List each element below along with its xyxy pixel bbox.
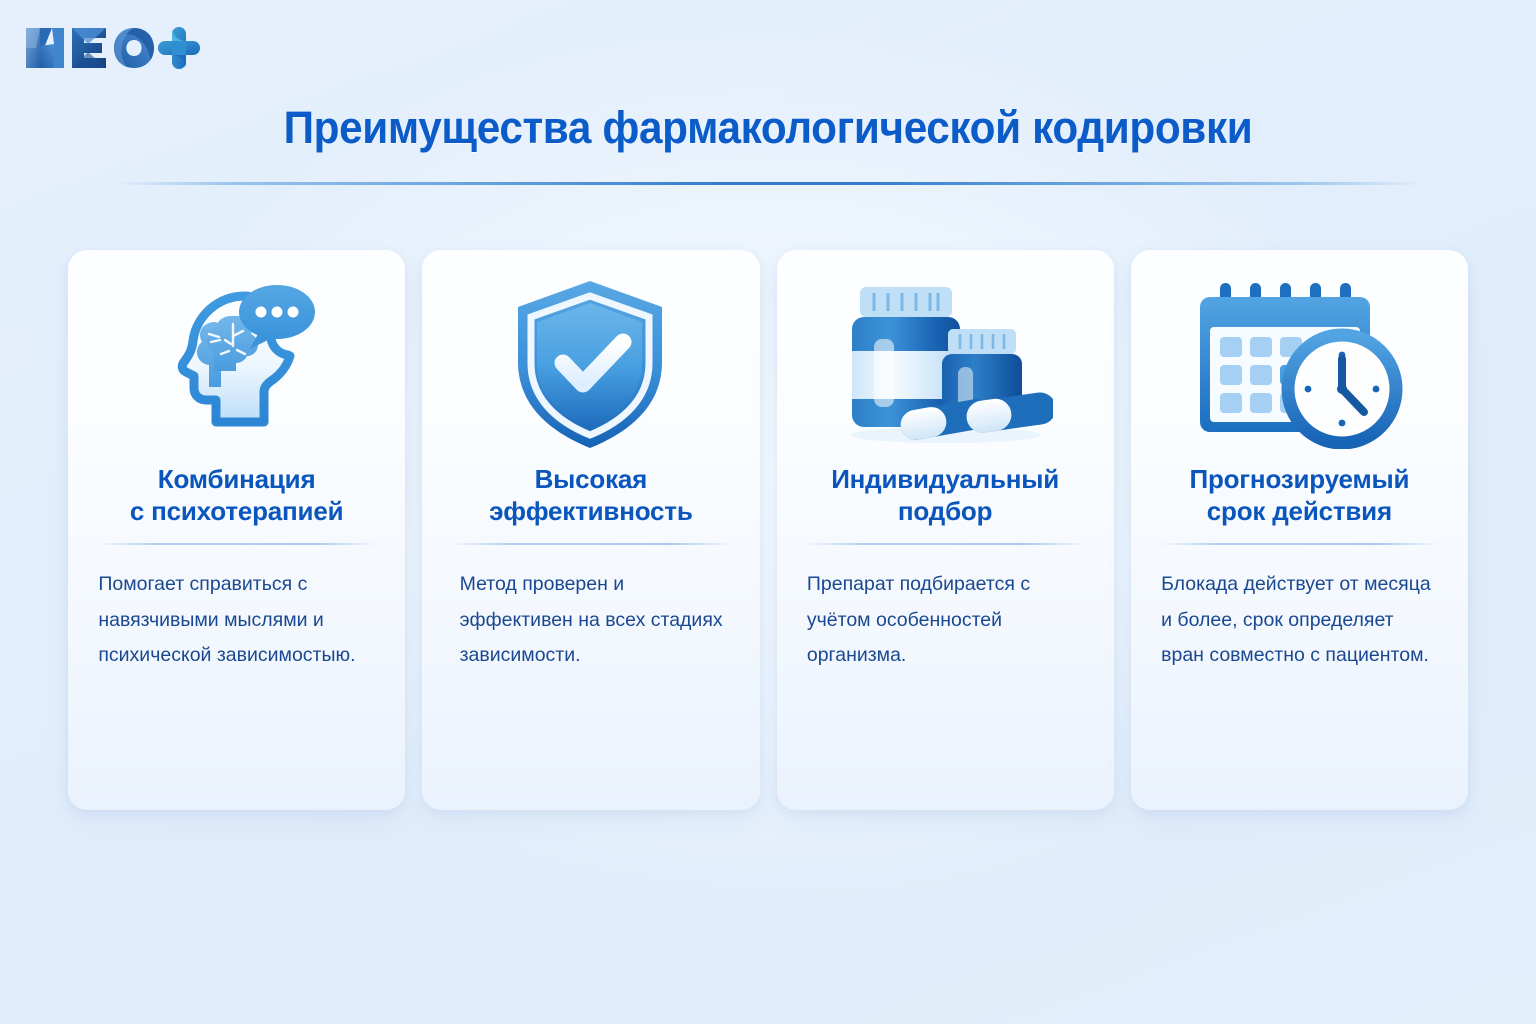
shield-check-icon [508,277,673,452]
logo-letter-o [114,28,154,68]
card-title-line1: Прогнозируемый [1189,464,1409,494]
card-title: Высокая эффективность [442,464,739,527]
card-divider [1158,543,1441,545]
pill-bottles-capsules-icon [838,279,1053,449]
card-body-text: Препарат подбирается с учётом особенност… [807,567,1084,672]
card-body-text: Метод проверен и эффективен на всех стад… [446,567,737,672]
card-title-line1: Индивидуальный [831,464,1059,494]
card-title: Комбинация с психотерапией [88,464,385,527]
page-title: Преимущества фармакологической кодировки [46,102,1490,154]
card-divider [449,543,732,545]
calendar-clock-icon [1192,279,1407,449]
clock-icon [1288,335,1396,443]
card-title-line2: эффективность [489,496,693,526]
card-divider [803,543,1086,545]
card-title-line2: с психотерапией [130,496,344,526]
icon-container [777,250,1114,460]
head-brain-speech-bubble-icon [147,274,327,454]
logo-letter-n [26,28,64,68]
logo-plus-icon [158,27,200,69]
card-body-text: Блокада действует от месяца и более, сро… [1161,567,1438,672]
benefit-card-list: Комбинация с психотерапией Помогает спра… [68,250,1468,810]
icon-container [422,250,759,460]
card-title-line1: Комбинация [158,464,316,494]
benefit-card-individual-selection[interactable]: Индивидуальный подбор Препарат подбирает… [777,250,1114,810]
card-divider [95,543,378,545]
card-title-line2: подбор [898,496,992,526]
card-body-text: Помогает справиться с навязчивыми мыслям… [98,567,375,672]
card-title-line2: срок действия [1207,496,1392,526]
benefit-card-predictable-duration[interactable]: Прогнозируемый срок действия Блокада дей… [1131,250,1468,810]
benefit-card-combination-psychotherapy[interactable]: Комбинация с психотерапией Помогает спра… [68,250,405,810]
icon-container [1131,250,1468,460]
card-title: Прогнозируемый срок действия [1151,464,1448,527]
infographic-slide: Преимущества фармакологической кодировки [0,0,1536,1024]
icon-container [68,250,405,460]
neo-plus-logo [22,22,202,74]
logo-letter-e [72,28,106,68]
benefit-card-high-effectiveness[interactable]: Высокая эффективность Метод проверен и э… [422,250,759,810]
card-title: Индивидуальный подбор [797,464,1094,527]
title-divider [115,182,1421,185]
card-title-line1: Высокая [535,464,648,494]
